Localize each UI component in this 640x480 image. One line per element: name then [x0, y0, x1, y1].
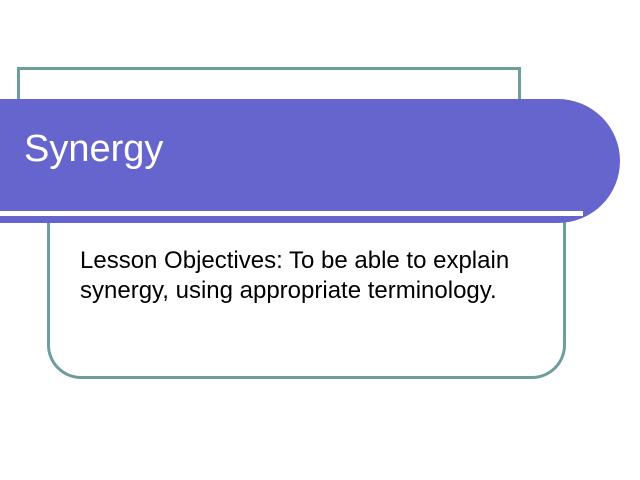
slide-canvas: Synergy Lesson Objectives: To be able to…	[0, 0, 640, 480]
banner-divider-rule	[0, 211, 583, 216]
slide-title: Synergy	[24, 126, 163, 172]
title-banner: Synergy	[0, 99, 620, 223]
slide-body-text: Lesson Objectives: To be able to explain…	[80, 246, 530, 306]
